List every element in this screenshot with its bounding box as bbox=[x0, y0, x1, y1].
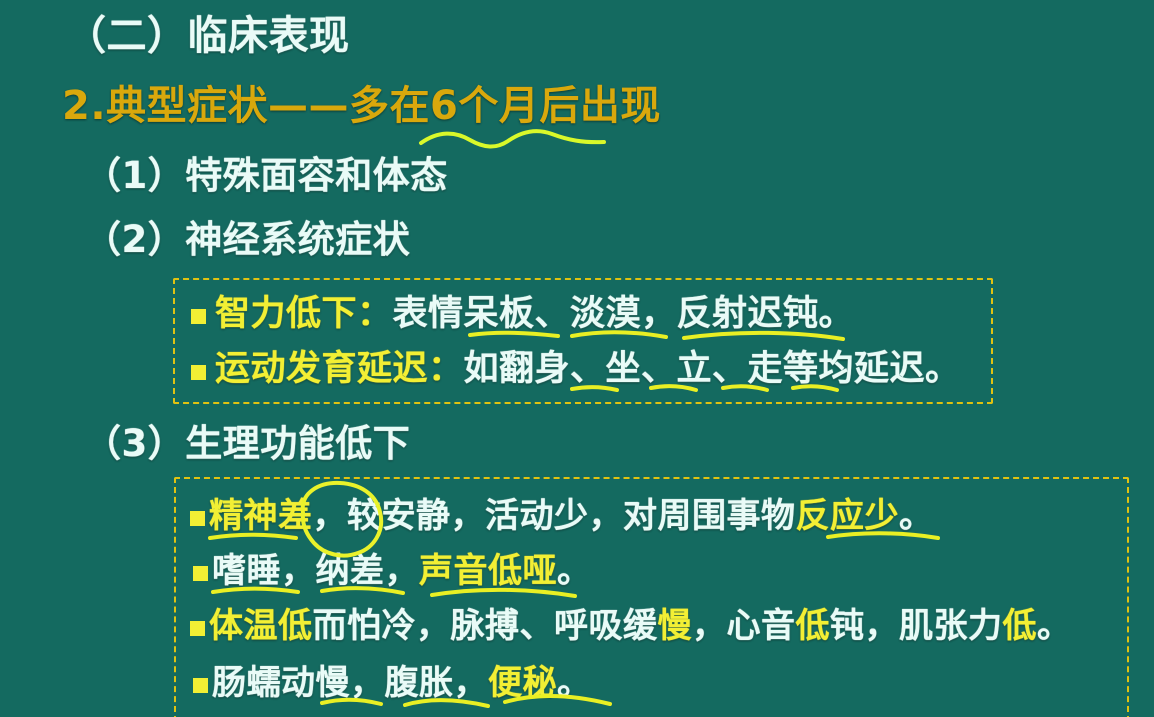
box2-line-2-seg-2: 。 bbox=[557, 551, 592, 591]
wavy-underline-6months bbox=[421, 131, 604, 146]
box2-line-3-seg-6: 低 bbox=[1003, 606, 1038, 646]
box2-line-3: 体温低而怕冷，脉搏、呼吸缓慢，心音低钝，肌张力低。 bbox=[209, 609, 1072, 643]
box1-line-2-seg-0: 运动发育延迟： bbox=[215, 349, 464, 389]
box1-line-2-seg-1: 如翻身、坐、立、走等均延迟。 bbox=[464, 349, 961, 389]
box2-line-4: 肠蠕动慢，腹胀，便秘。 bbox=[212, 666, 592, 700]
box2-line-1-seg-2: 反应少 bbox=[796, 496, 900, 536]
box1-line-1: 智力低下：表情呆板、淡漠，反射迟钝。 bbox=[215, 297, 854, 332]
square-bullet-icon bbox=[193, 678, 208, 693]
box2-line-2-seg-1: 声音低哑 bbox=[419, 551, 557, 591]
square-bullet-icon bbox=[191, 309, 206, 324]
box2-line-3-seg-4: 低 bbox=[796, 606, 831, 646]
box2-line-4-seg-0: 肠蠕动慢，腹胀， bbox=[212, 663, 488, 703]
box2-line-3-seg-7: 。 bbox=[1037, 606, 1072, 646]
box2-line-1-seg-1: ，较安静，活动少，对周围事物 bbox=[313, 496, 796, 536]
box1-line-1-seg-1: 表情呆板、淡漠，反射迟钝。 bbox=[393, 294, 855, 334]
list-item-1: （1）特殊面容和体态 bbox=[84, 157, 448, 194]
square-bullet-icon bbox=[190, 621, 205, 636]
slide-canvas: （二）临床表现 2.典型症状——多在6个月后出现 （1）特殊面容和体态 （2）神… bbox=[0, 0, 1154, 717]
box2-line-3-seg-3: ，心音 bbox=[692, 606, 796, 646]
subheading: 2.典型症状——多在6个月后出现 bbox=[62, 86, 661, 126]
box1-line-2: 运动发育延迟：如翻身、坐、立、走等均延迟。 bbox=[215, 352, 961, 387]
list-item-3: （3）生理功能低下 bbox=[84, 425, 410, 462]
box2-line-1-seg-0: 精神差 bbox=[209, 496, 313, 536]
list-item-2: （2）神经系统症状 bbox=[84, 221, 410, 258]
box2-line-3-seg-5: 钝，肌张力 bbox=[830, 606, 1003, 646]
box2-line-3-seg-2: 慢 bbox=[658, 606, 693, 646]
box2-line-4-seg-2: 。 bbox=[557, 663, 592, 703]
box2-line-1-seg-3: 。 bbox=[899, 496, 934, 536]
square-bullet-icon bbox=[193, 566, 208, 581]
box2-line-1: 精神差，较安静，活动少，对周围事物反应少。 bbox=[209, 499, 934, 533]
page-title: （二）临床表现 bbox=[66, 16, 350, 56]
box2-line-2-seg-0: 嗜睡，纳差， bbox=[212, 551, 419, 591]
box2-line-2: 嗜睡，纳差，声音低哑。 bbox=[212, 554, 592, 588]
square-bullet-icon bbox=[191, 365, 206, 380]
box2-line-3-seg-1: 而怕冷，脉搏、呼吸缓 bbox=[313, 606, 658, 646]
box1-line-1-seg-0: 智力低下： bbox=[215, 294, 393, 334]
square-bullet-icon bbox=[190, 511, 205, 526]
box2-line-4-seg-1: 便秘 bbox=[488, 663, 557, 703]
box2-line-3-seg-0: 体温低 bbox=[209, 606, 313, 646]
